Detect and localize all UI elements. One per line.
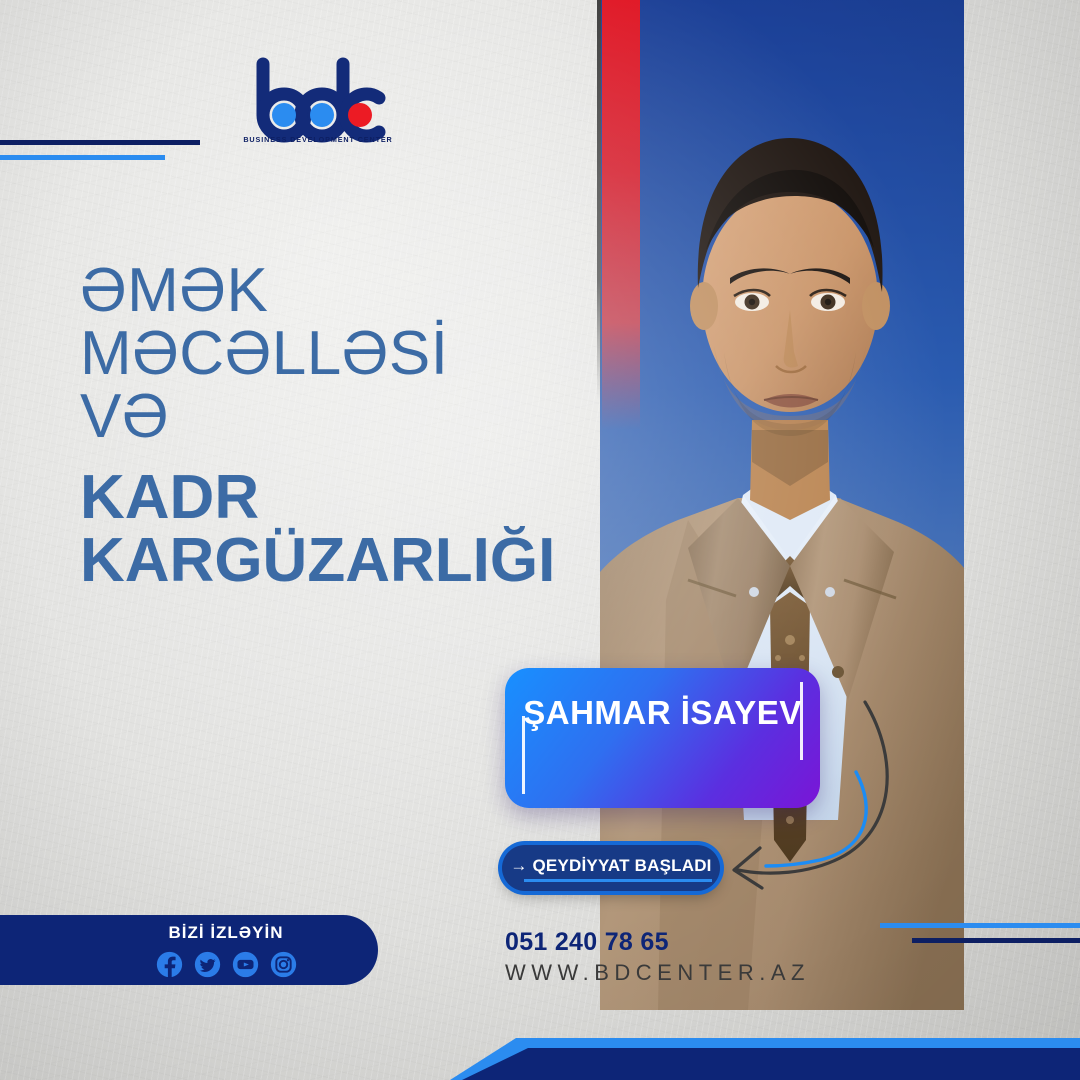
red-accent-stripe <box>602 0 640 430</box>
instagram-icon[interactable] <box>270 951 297 978</box>
curved-arrow-icon <box>690 690 920 910</box>
youtube-icon[interactable] <box>232 951 259 978</box>
headline-block: ƏMƏK MƏCƏLLƏSİ VƏ KADR KARGÜZARLIĞI <box>80 262 550 590</box>
twitter-icon[interactable] <box>194 951 221 978</box>
deco-line-top-left-light <box>0 155 165 160</box>
headline-line-1: ƏMƏK <box>80 262 550 321</box>
facebook-icon[interactable] <box>156 951 183 978</box>
cta-inner: → QEYDİYYAT BAŞLADI <box>510 856 711 880</box>
registration-cta-button[interactable]: → QEYDİYYAT BAŞLADI <box>502 845 720 891</box>
social-follow-label: BİZİ İZLƏYİN <box>0 923 378 943</box>
headline-line-2: MƏCƏLLƏSİ <box>80 325 550 384</box>
deco-line-top-left-dark <box>0 140 200 145</box>
logo-tagline: BUSINESS DEVELOPMENT CENTER <box>243 135 393 144</box>
cta-label: → QEYDİYYAT BAŞLADI <box>510 856 711 875</box>
bottom-accent-bar <box>0 1000 1080 1080</box>
headline-line-4: KADR <box>80 469 550 528</box>
cta-underline <box>524 879 711 882</box>
deco-line-bottom-right-dark <box>912 938 1080 943</box>
social-icons-row <box>0 951 378 978</box>
headline-line-5: KARGÜZARLIĞI <box>80 532 550 591</box>
social-follow-pill: BİZİ İZLƏYİN <box>0 915 378 985</box>
contact-phone: 051 240 78 65 <box>505 928 669 957</box>
deco-line-bottom-right-light <box>880 923 1080 928</box>
red-stripe-edge <box>597 0 601 400</box>
contact-website: WWW.BDCENTER.AZ <box>505 960 810 986</box>
headline-line-3: VƏ <box>80 388 550 447</box>
poster-canvas: BUSINESS DEVELOPMENT CENTER ƏMƏK MƏCƏLLƏ… <box>0 0 1080 1080</box>
